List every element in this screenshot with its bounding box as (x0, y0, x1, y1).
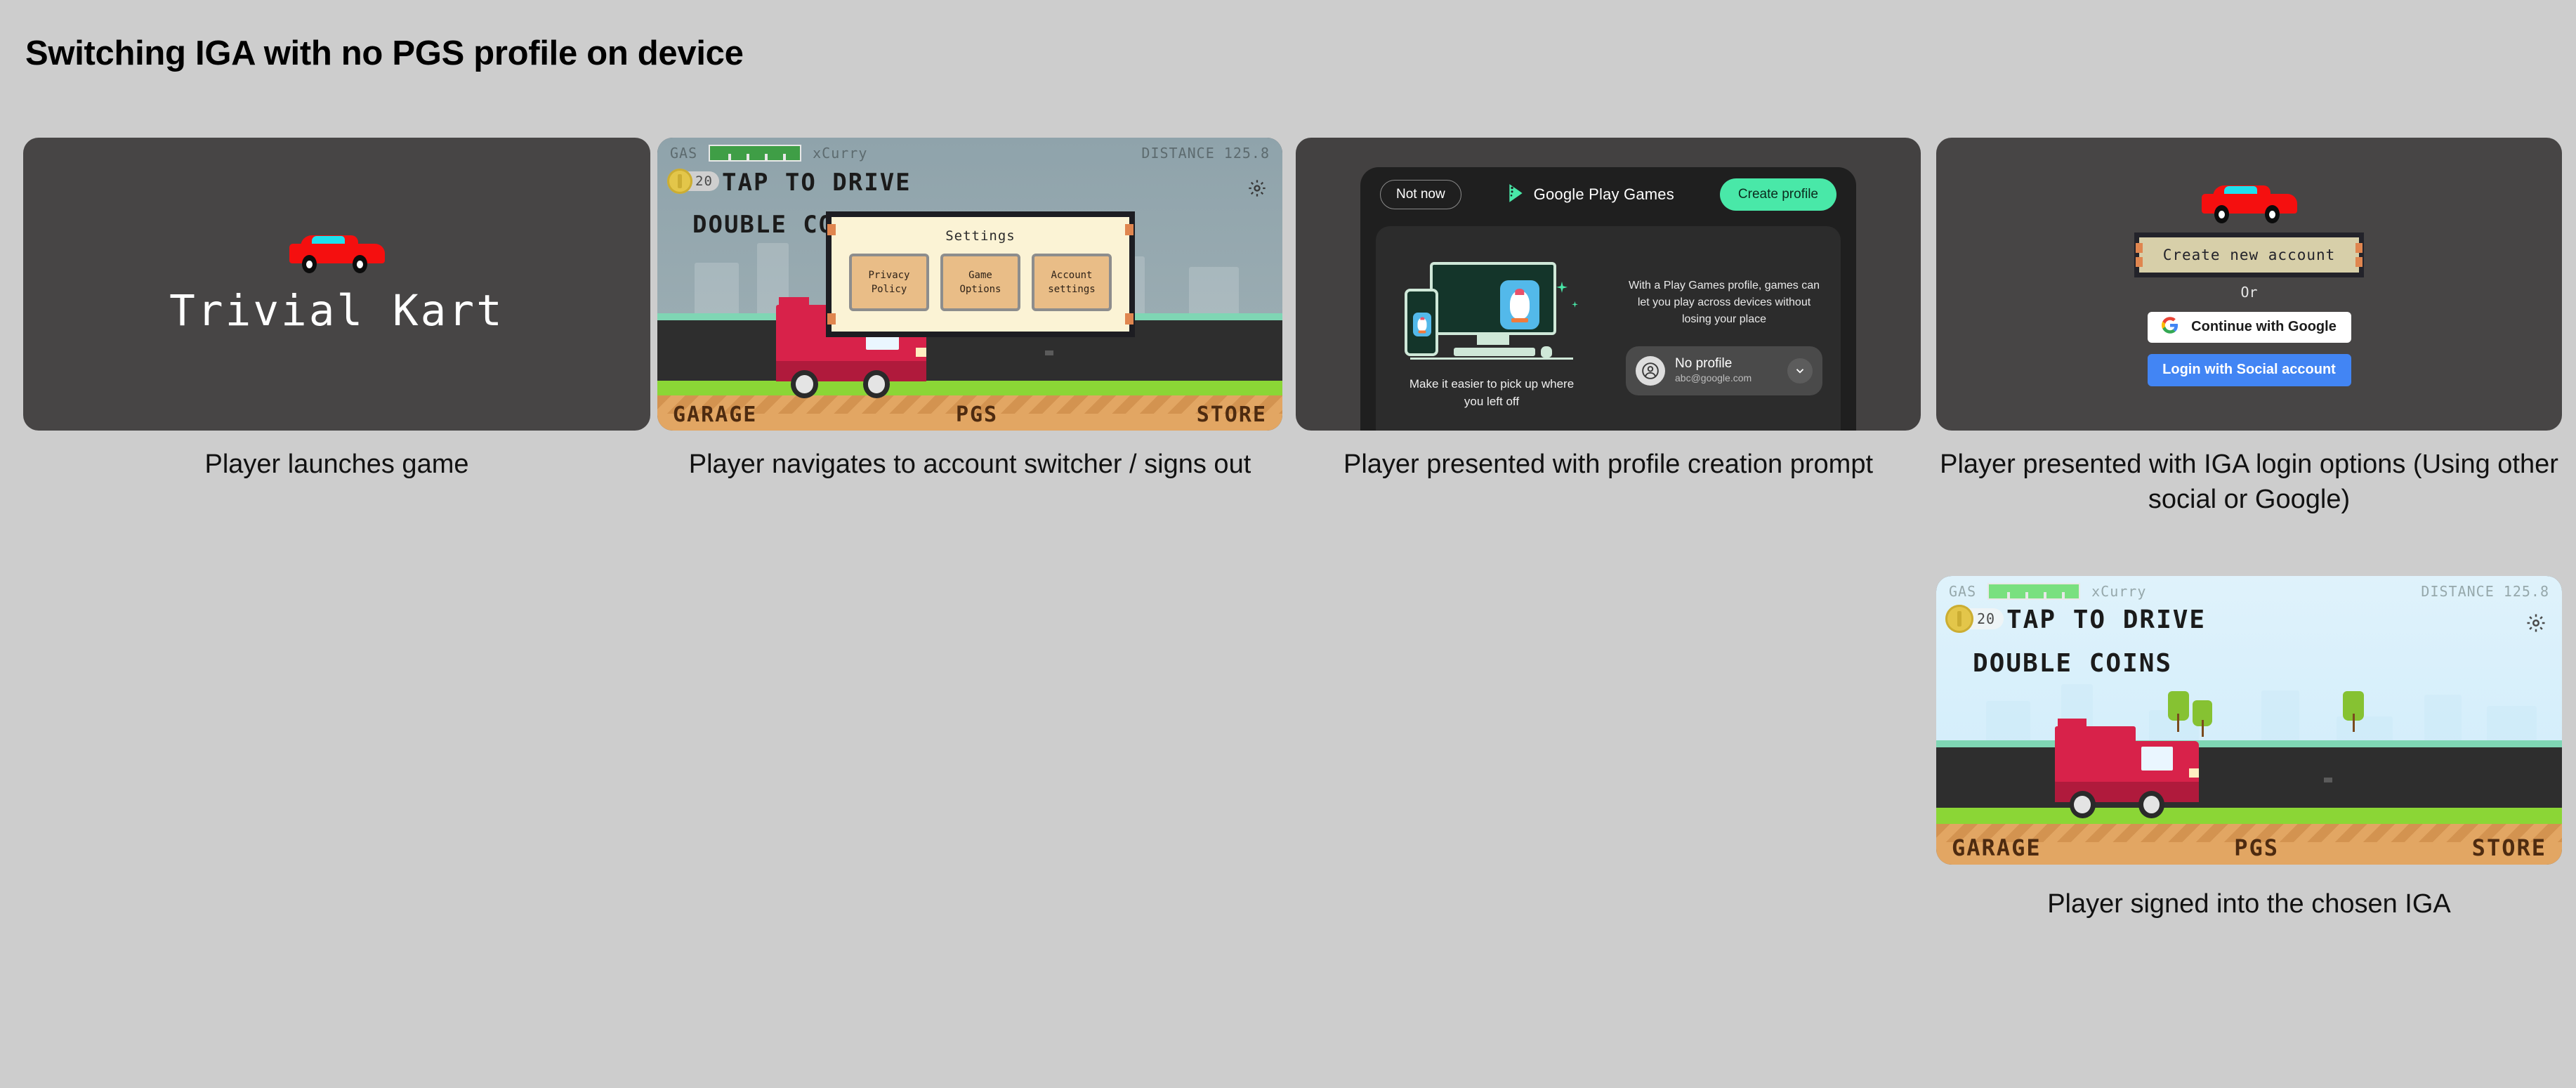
headline-line-1: TAP TO DRIVE (2006, 605, 2206, 634)
cross-device-illustration (1403, 262, 1580, 360)
coin-count: 20 (1977, 610, 1995, 627)
panel-game-splash: Trivial Kart (23, 138, 650, 431)
headline-line-2: DOUBLE COINS (1973, 649, 2172, 678)
panel-account-switcher: GAS xCurry DISTANCE 125.8 20 TAP TO DRIV… (657, 138, 1282, 431)
profile-name: No profile (1675, 356, 1777, 372)
account-circle-icon (1636, 356, 1665, 386)
profile-selector-card[interactable]: No profile abc@google.com (1626, 346, 1822, 395)
create-profile-button[interactable]: Create profile (1720, 178, 1836, 211)
panel-signed-in-game: GAS xCurry DISTANCE 125.8 20 TAP TO DRIV… (1936, 576, 2562, 865)
google-g-icon (2162, 317, 2179, 338)
red-pixel-car-icon (289, 232, 385, 273)
panel-caption-5: Player signed into the chosen IGA (1936, 886, 2562, 922)
panel-caption-4: Player presented with IGA login options … (1936, 447, 2562, 517)
panel-iga-login: Create new account Or Continue with Goog… (1936, 138, 2562, 431)
page-title: Switching IGA with no PGS profile on dev… (25, 34, 744, 73)
gear-icon[interactable] (2525, 612, 2547, 634)
coin-icon (1945, 605, 1973, 633)
play-games-triangle-icon (1507, 183, 1525, 207)
gas-label: GAS (1949, 583, 1976, 600)
game-options-button[interactable]: Game Options (940, 254, 1020, 311)
settings-modal-title: Settings (832, 228, 1129, 244)
tree-sprite (2343, 691, 2364, 732)
not-now-button[interactable]: Not now (1380, 180, 1461, 209)
game-title: Trivial Kart (169, 286, 504, 336)
truck-sprite (2055, 726, 2199, 819)
nav-pgs[interactable]: PGS (2234, 834, 2279, 861)
nav-store[interactable]: STORE (1197, 402, 1267, 427)
create-new-account-label: Create new account (2163, 247, 2336, 263)
game-options-label-1: Game (968, 270, 992, 281)
coin-counter: 20 (673, 171, 719, 191)
headline-line-1: TAP TO DRIVE (722, 169, 912, 197)
panel-profile-creation-prompt: Not now Google Play Games Create profile (1296, 138, 1921, 431)
gas-label: GAS (670, 145, 697, 162)
account-settings-label-1: Account (1051, 270, 1092, 281)
distance-label: DISTANCE 125.8 (1141, 145, 1270, 162)
player-name: xCurry (813, 145, 867, 162)
nav-pgs[interactable]: PGS (956, 402, 998, 427)
account-settings-button[interactable]: Account settings (1032, 254, 1112, 311)
player-name: xCurry (2091, 583, 2146, 600)
settings-modal: Settings Privacy Policy Game Options Acc… (832, 217, 1129, 332)
continue-with-google-button[interactable]: Continue with Google (2148, 312, 2351, 343)
chevron-down-icon[interactable] (1787, 358, 1813, 384)
create-new-account-button[interactable]: Create new account (2139, 237, 2360, 273)
coin-counter: 20 (1952, 608, 2004, 629)
pgs-left-caption: Make it easier to pick up where you left… (1407, 376, 1576, 410)
coin-icon (667, 169, 692, 194)
panel-caption-3: Player presented with profile creation p… (1296, 447, 1921, 482)
profile-email: abc@google.com (1675, 372, 1777, 384)
gas-bar (709, 145, 801, 162)
distance-label: DISTANCE 125.8 (2421, 583, 2549, 600)
privacy-policy-button[interactable]: Privacy Policy (849, 254, 929, 311)
nav-garage[interactable]: GARAGE (1952, 834, 2042, 861)
pgs-right-caption: With a Play Games profile, games can let… (1626, 277, 1822, 328)
or-divider-label: Or (2240, 284, 2257, 301)
game-options-label-2: Options (959, 284, 1001, 295)
nav-garage[interactable]: GARAGE (673, 402, 757, 427)
privacy-policy-label-1: Privacy (868, 270, 909, 281)
gas-bar (1987, 583, 2080, 600)
coin-count: 20 (695, 173, 713, 189)
play-games-brand-label: Google Play Games (1534, 185, 1674, 204)
gear-icon[interactable] (1247, 178, 1267, 198)
privacy-policy-label-2: Policy (872, 284, 907, 295)
panel-caption-1: Player launches game (23, 447, 650, 482)
login-with-social-button[interactable]: Login with Social account (2148, 354, 2351, 386)
play-games-sheet: Not now Google Play Games Create profile (1360, 167, 1856, 431)
panel-caption-2: Player navigates to account switcher / s… (657, 447, 1282, 482)
nav-store[interactable]: STORE (2472, 834, 2547, 861)
play-games-brand: Google Play Games (1507, 183, 1674, 207)
continue-with-google-label: Continue with Google (2191, 319, 2337, 335)
red-pixel-car-icon (2202, 183, 2297, 223)
account-settings-label-2: settings (1048, 284, 1095, 295)
